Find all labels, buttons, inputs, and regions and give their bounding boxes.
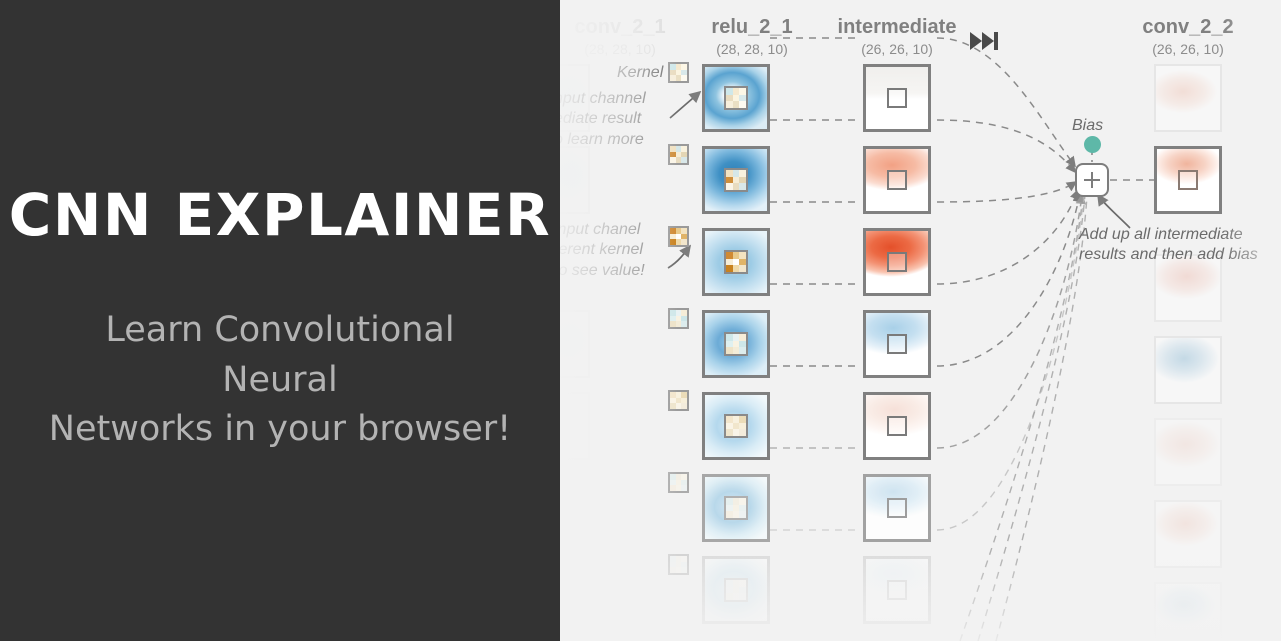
hero-subtitle: Learn Convolutional Neural Networks in y… — [45, 306, 515, 455]
feature-map-gradient — [1156, 502, 1220, 566]
column-name: intermediate — [807, 16, 987, 38]
conv_2_2-channel-tile[interactable] — [1154, 64, 1222, 132]
relu_2_1-channel-tile[interactable] — [702, 556, 770, 624]
intermediate-channel-tile[interactable] — [863, 556, 931, 624]
intermediate-channel-tile[interactable] — [863, 392, 931, 460]
kernel-swatch[interactable] — [668, 472, 689, 493]
right-edge-fade — [1221, 0, 1281, 641]
intermediate-channel-tile[interactable] — [863, 474, 931, 542]
column-shape: (26, 26, 10) — [807, 41, 987, 57]
feature-map-gradient — [560, 148, 588, 212]
page-title-text: CNN Explainer — [9, 181, 551, 249]
feature-map-gradient — [1156, 584, 1220, 641]
annotation-line-3: o learn more — [560, 130, 646, 150]
intermediate-channel-tile[interactable] — [863, 310, 931, 378]
fast-forward-icon[interactable] — [968, 30, 1000, 57]
app-root: CNN Explainer Learn Convolutional Neural… — [0, 0, 1281, 641]
fast-forward-glyph — [968, 30, 1000, 52]
annotation-line-2: results and then add bias — [1079, 245, 1258, 265]
annotation-line-1: input chanel — [560, 220, 645, 240]
hero-panel: CNN Explainer Learn Convolutional Neural… — [0, 0, 560, 641]
cnn-visualization-panel: conv_2_1 (28, 28, 10) relu_2_1 (28, 28, … — [560, 0, 1281, 641]
annotation-add-bias: Add up all intermediate results and then… — [1079, 225, 1258, 266]
annotation-kernel-label: Kernel — [617, 63, 663, 83]
intermediate-channel-tile[interactable] — [863, 228, 931, 296]
kernel-swatch[interactable] — [668, 62, 689, 83]
feature-map-gradient — [560, 394, 588, 458]
bias-label: Bias — [1072, 117, 1103, 135]
focus-box — [887, 580, 907, 600]
column-shape: (26, 26, 10) — [1098, 41, 1278, 57]
column-header-conv_2_2: conv_2_2 (26, 26, 10) — [1098, 16, 1278, 57]
kernel-swatch[interactable] — [668, 390, 689, 411]
feature-map-gradient — [1156, 66, 1220, 130]
focus-box — [887, 252, 907, 272]
kernel-overlay[interactable] — [724, 496, 748, 520]
sum-node[interactable] — [1075, 163, 1109, 197]
relu_2_1-channel-tile[interactable] — [702, 228, 770, 296]
page-title: CNN Explainer — [9, 186, 551, 244]
kernel-overlay[interactable] — [724, 414, 748, 438]
annotation-line-2: ediate result — [560, 109, 646, 129]
kernel-overlay[interactable] — [724, 332, 748, 356]
intermediate-channel-tile[interactable] — [863, 64, 931, 132]
column-header-intermediate: intermediate (26, 26, 10) — [807, 16, 987, 57]
relu_2_1-channel-tile[interactable] — [702, 64, 770, 132]
annotation-line-3: to see value! — [560, 261, 645, 281]
conv_2_2-channel-tile[interactable] — [1154, 418, 1222, 486]
kernel-swatch[interactable] — [668, 554, 689, 575]
hero-subtitle-line-1: Learn Convolutional Neural — [45, 306, 515, 405]
focus-box — [887, 416, 907, 436]
annotation-text: Kernel — [617, 64, 663, 81]
conv_2_2-channel-tile-selected[interactable] — [1154, 146, 1222, 214]
column-name: conv_2_2 — [1098, 16, 1278, 38]
kernel-overlay[interactable] — [724, 168, 748, 192]
kernel-overlay[interactable] — [724, 578, 748, 602]
relu_2_1-channel-tile[interactable] — [702, 146, 770, 214]
kernel-swatch[interactable] — [668, 226, 689, 247]
annotation-hover-kernel: input chanel ferent kernel to see value! — [560, 220, 645, 281]
feature-map-gradient — [1156, 420, 1220, 484]
conv_2_1-channel-tile[interactable] — [560, 146, 590, 214]
intermediate-channel-tile[interactable] — [863, 146, 931, 214]
kernel-overlay[interactable] — [724, 86, 748, 110]
feature-map-gradient — [560, 312, 588, 376]
annotation-line-1: nput channel — [560, 89, 646, 109]
annotation-line-1: Add up all intermediate — [1079, 225, 1258, 245]
annotation-line-2: ferent kernel — [560, 240, 645, 260]
focus-box — [887, 334, 907, 354]
focus-box — [887, 88, 907, 108]
focus-box — [887, 498, 907, 518]
focus-box — [887, 170, 907, 190]
hero-subtitle-line-2: Networks in your browser! — [45, 405, 515, 455]
conv_2_1-channel-tile[interactable] — [560, 310, 590, 378]
relu_2_1-channel-tile[interactable] — [702, 474, 770, 542]
kernel-swatch[interactable] — [668, 308, 689, 329]
conv_2_2-channel-tile[interactable] — [1154, 582, 1222, 641]
relu_2_1-channel-tile[interactable] — [702, 310, 770, 378]
feature-map-gradient — [1156, 338, 1220, 402]
relu_2_1-channel-tile[interactable] — [702, 392, 770, 460]
kernel-swatch[interactable] — [668, 144, 689, 165]
annotation-click-input-channel: nput channel ediate result o learn more — [560, 89, 646, 150]
focus-box — [1178, 170, 1198, 190]
conv_2_2-channel-tile[interactable] — [1154, 500, 1222, 568]
bias-dot-icon[interactable] — [1084, 136, 1101, 153]
conv_2_2-channel-tile[interactable] — [1154, 336, 1222, 404]
conv_2_1-channel-tile[interactable] — [560, 392, 590, 460]
kernel-overlay[interactable] — [724, 250, 748, 274]
